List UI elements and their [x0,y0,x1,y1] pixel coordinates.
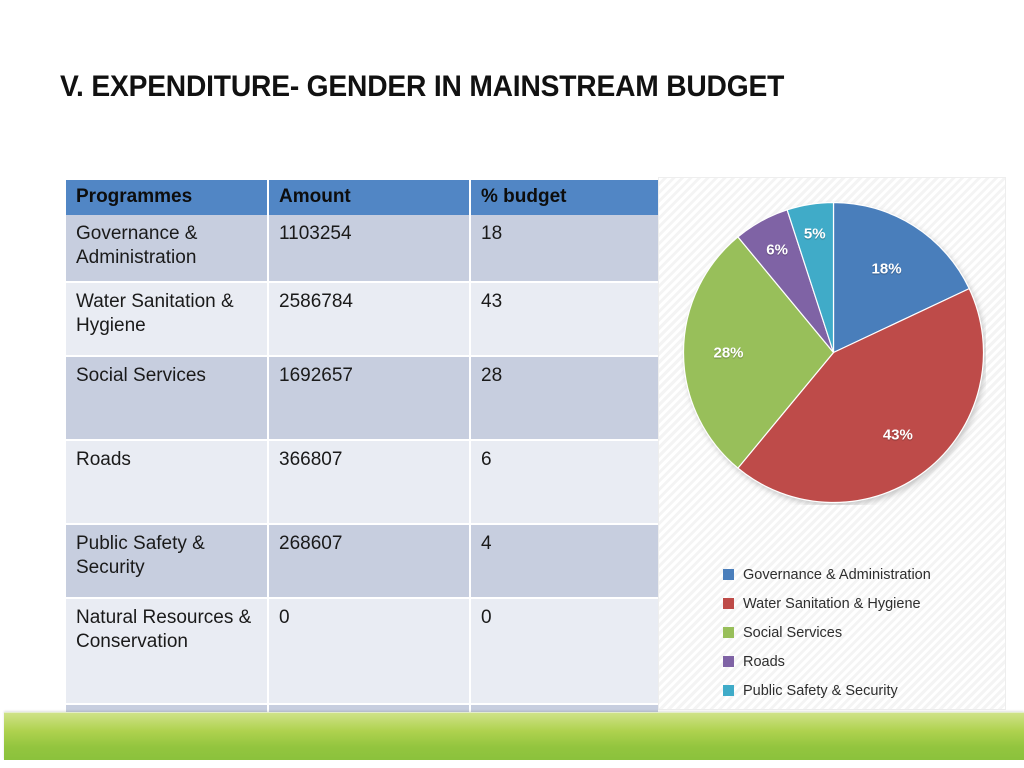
cell-programme: Social Services [66,356,268,440]
cell-percent: 18 [470,215,658,282]
legend-swatch-icon [723,685,734,696]
legend-label: Water Sanitation & Hygiene [743,596,921,612]
column-header-amount: Amount [268,180,470,215]
table-row: Roads 366807 6 [66,440,658,524]
cell-programme: Water Sanitation & Hygiene [66,282,268,356]
cell-programme: Natural Resources & Conservation [66,598,268,704]
cell-programme: Governance & Administration [66,215,268,282]
cell-amount: 0 [268,598,470,704]
legend-swatch-icon [723,598,734,609]
cell-amount: 1692657 [268,356,470,440]
legend-swatch-icon [723,656,734,667]
cell-programme: Public Safety & Security [66,524,268,598]
cell-percent: 43 [470,282,658,356]
chart-legend: Governance & AdministrationWater Sanitat… [723,560,993,705]
cell-percent: 4 [470,524,658,598]
legend-label: Public Safety & Security [743,683,898,699]
cell-percent: 28 [470,356,658,440]
legend-swatch-icon [723,569,734,580]
cell-programme: Roads [66,440,268,524]
legend-swatch-icon [723,627,734,638]
legend-label: Roads [743,654,785,670]
table-row: Governance & Administration 1103254 18 [66,215,658,282]
legend-item: Public Safety & Security [723,676,993,705]
pie-chart: 18%43%28%6%5% [681,200,986,505]
slide-canvas: V. EXPENDITURE- GENDER IN MAINSTREAM BUD… [0,0,1024,768]
cell-percent: 6 [470,440,658,524]
cell-amount: 366807 [268,440,470,524]
column-header-programmes: Programmes [66,180,268,215]
legend-label: Governance & Administration [743,567,931,583]
legend-item: Roads [723,647,993,676]
footer-accent-bar [4,712,1024,760]
legend-item: Water Sanitation & Hygiene [723,589,993,618]
cell-amount: 268607 [268,524,470,598]
footer-base [0,760,1024,768]
column-header-percent-budget: % budget [470,180,658,215]
legend-item: Governance & Administration [723,560,993,589]
pie-chart-svg [681,200,986,505]
cell-amount: 1103254 [268,215,470,282]
table-row: Natural Resources & Conservation 0 0 [66,598,658,704]
table-row: Public Safety & Security 268607 4 [66,524,658,598]
table-header-row: Programmes Amount % budget [66,180,658,215]
cell-percent: 0 [470,598,658,704]
budget-table: Programmes Amount % budget Governance & … [66,180,658,755]
pie-chart-panel: 18%43%28%6%5% Governance & Administratio… [658,177,1006,710]
legend-label: Social Services [743,625,842,641]
legend-item: Social Services [723,618,993,647]
table-row: Water Sanitation & Hygiene 2586784 43 [66,282,658,356]
table-row: Social Services 1692657 28 [66,356,658,440]
cell-amount: 2586784 [268,282,470,356]
page-title: V. EXPENDITURE- GENDER IN MAINSTREAM BUD… [60,70,906,104]
